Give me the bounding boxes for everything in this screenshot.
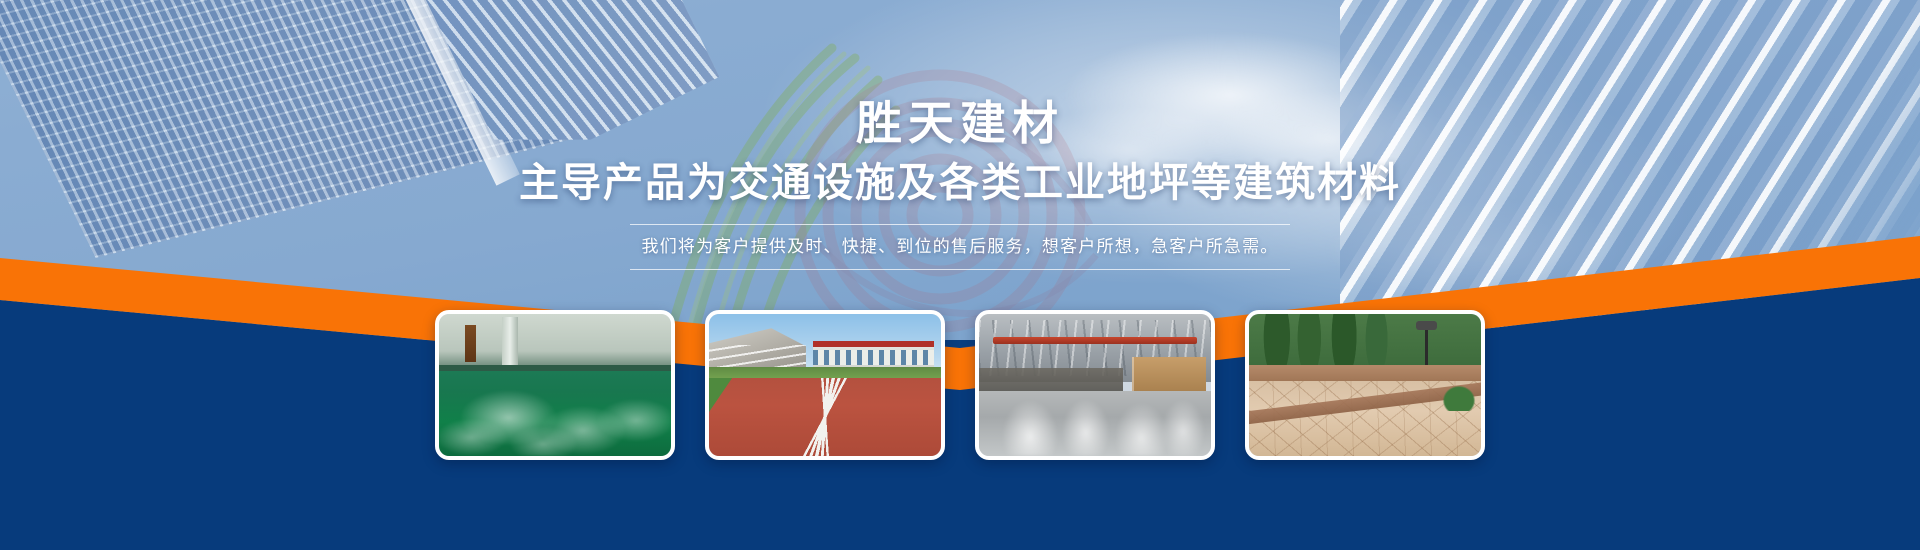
thumbnail-red-running-track[interactable] — [705, 310, 945, 460]
divider-bottom — [630, 269, 1290, 270]
hero-copy: 胜天建材 主导产品为交通设施及各类工业地坪等建筑材料 我们将为客户提供及时、快捷… — [0, 96, 1920, 270]
hero-tagline: 我们将为客户提供及时、快捷、到位的售后服务，想客户所想，急客户所急需。 — [630, 225, 1290, 269]
thumbnail-strip — [0, 310, 1920, 460]
thumbnail-green-epoxy-floor[interactable] — [435, 310, 675, 460]
hero-banner: 胜天建材 主导产品为交通设施及各类工业地坪等建筑材料 我们将为客户提供及时、快捷… — [0, 0, 1920, 550]
thumbnail-stamped-decorative-concrete[interactable] — [1245, 310, 1485, 460]
page-title: 胜天建材 — [0, 96, 1920, 150]
hero-subtitle: 主导产品为交通设施及各类工业地坪等建筑材料 — [0, 158, 1920, 208]
tagline-block: 我们将为客户提供及时、快捷、到位的售后服务，想客户所想，急客户所急需。 — [630, 224, 1290, 270]
thumbnail-industrial-warehouse-floor[interactable] — [975, 310, 1215, 460]
